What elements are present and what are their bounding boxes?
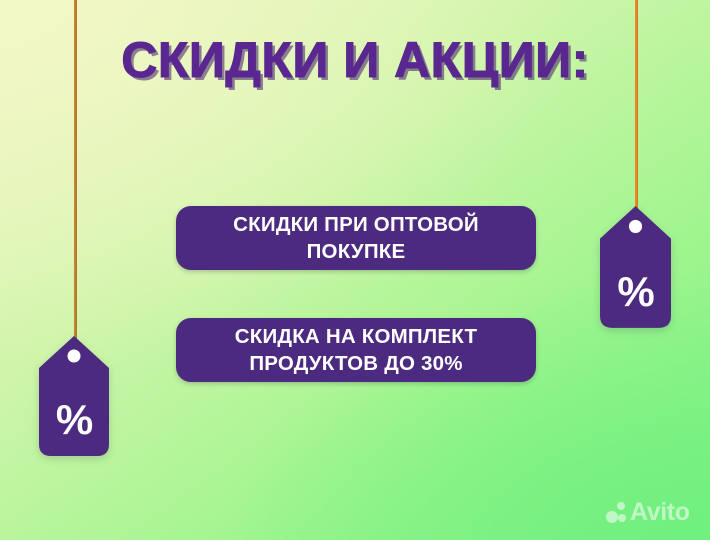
page-title: СКИДКИ И АКЦИИ: [0,32,710,88]
offer-pill-wholesale-discount[interactable]: СКИДКИ ПРИ ОПТОВОЙ ПОКУПКЕ [176,206,536,270]
price-tag-right: % [600,206,671,328]
offer-pill-label: СКИДКИ ПРИ ОПТОВОЙ ПОКУПКЕ [192,211,520,265]
promo-poster: СКИДКИ И АКЦИИ: СКИДКИ ПРИ ОПТОВОЙ ПОКУП… [0,0,710,540]
avito-watermark: Avito [606,500,690,525]
price-tag-left: % [39,336,109,456]
offer-pill-label: СКИДКА НА КОМПЛЕКТ ПРОДУКТОВ ДО 30% [192,323,520,377]
price-tag-percent-symbol: % [39,398,109,442]
offer-pill-bundle-discount[interactable]: СКИДКА НА КОМПЛЕКТ ПРОДУКТОВ ДО 30% [176,318,536,382]
avito-dots-logo-icon [606,502,627,523]
avito-brand-label: Avito [630,500,690,525]
price-tag-percent-symbol: % [600,270,671,314]
